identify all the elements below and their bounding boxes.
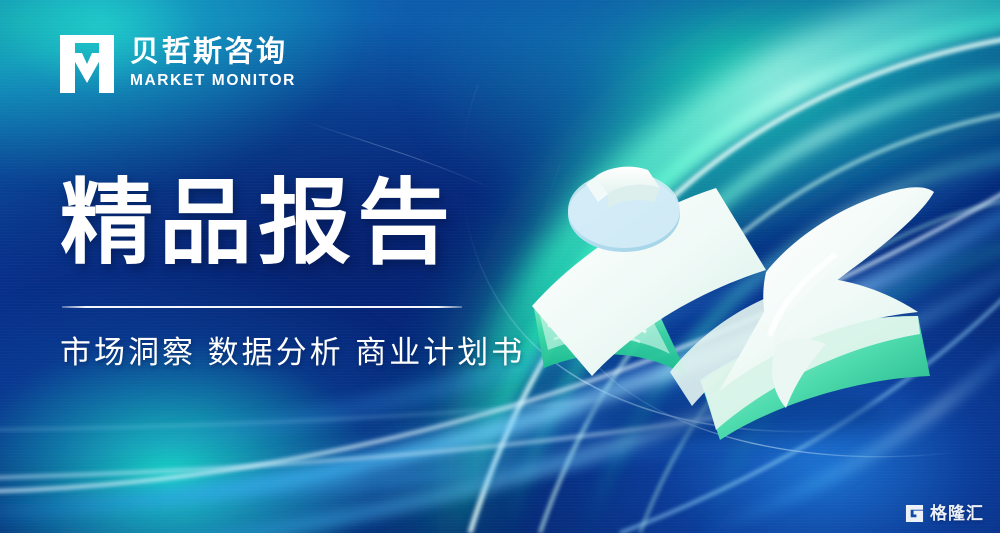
watermark-text: 格隆汇 [930, 505, 984, 522]
brand-logo[interactable]: 贝哲斯咨询 MARKET MONITOR [58, 33, 296, 95]
company-name-cn: 贝哲斯咨询 [130, 36, 296, 68]
open-book-icon [520, 140, 950, 450]
company-name-en: MARKET MONITOR [130, 69, 296, 92]
page-subtitle: 市场洞察 数据分析 商业计划书 [60, 330, 525, 377]
report-cover-banner: 贝哲斯咨询 MARKET MONITOR [0, 0, 1000, 533]
open-book-illustration [520, 140, 950, 450]
title-divider [62, 306, 462, 308]
page-title: 精品报告 [60, 171, 456, 275]
market-monitor-m-logo-icon [58, 33, 116, 95]
source-watermark[interactable]: 格隆汇 [905, 504, 984, 523]
gelonghui-g-logo-icon [905, 504, 924, 523]
brand-logo-text: 贝哲斯咨询 MARKET MONITOR [130, 36, 296, 92]
